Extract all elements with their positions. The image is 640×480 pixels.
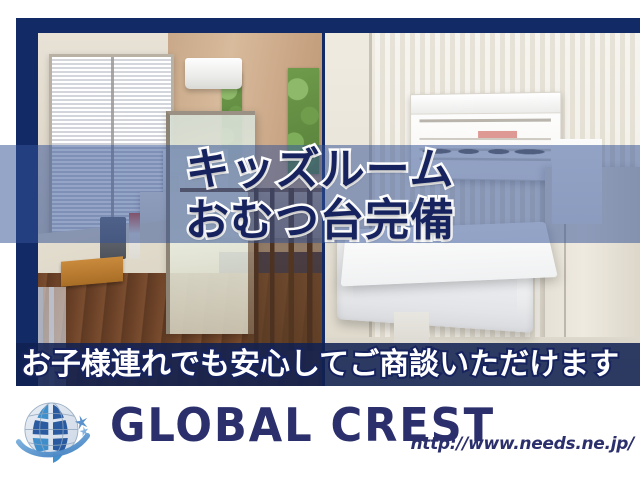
- headline-line-1: キッズルーム: [0, 144, 640, 195]
- caption: お子様連れでも安心してご商談いただけます: [0, 346, 640, 384]
- placard-header: [411, 93, 561, 115]
- air-conditioner: [185, 58, 242, 90]
- headline-line-2: おむつ台完備: [0, 195, 640, 246]
- globe-icon: [14, 392, 92, 470]
- headline: キッズルーム おむつ台完備: [0, 144, 640, 246]
- footer: GLOBAL CREST http://www.needs.ne.jp/: [0, 386, 640, 480]
- wooden-toy-shelf: [61, 256, 123, 286]
- website-url[interactable]: http://www.needs.ne.jp/: [410, 434, 634, 454]
- promo-banner: キッズルーム おむつ台完備 お子様連れでも安心してご商談いただけます: [0, 0, 640, 480]
